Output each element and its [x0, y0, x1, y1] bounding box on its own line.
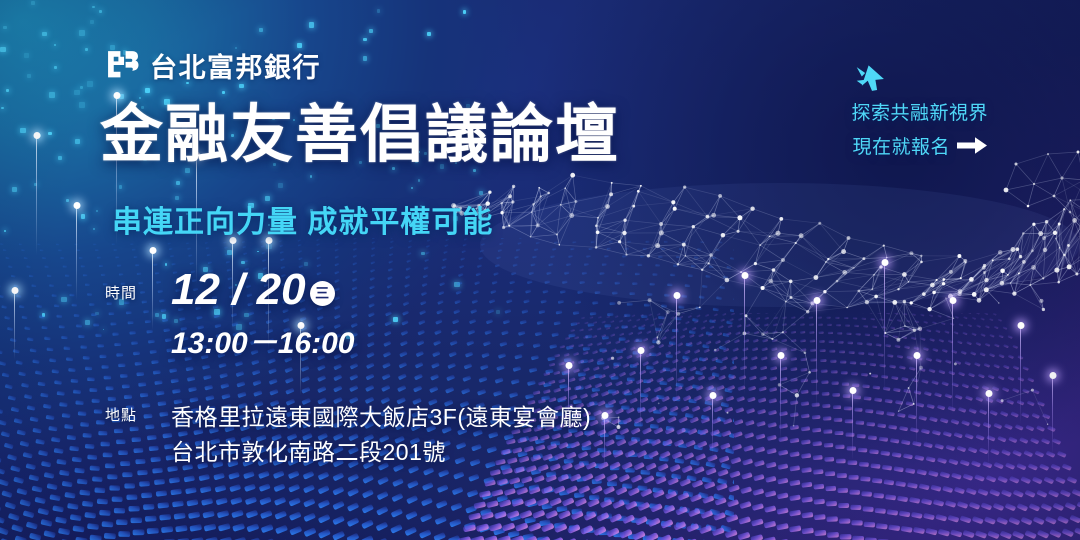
place-label: 地點 [105, 400, 163, 425]
fubon-square-logo-icon [106, 49, 139, 82]
page-title: 金融友善倡議論壇 [100, 104, 620, 167]
arrow-right-icon [957, 136, 987, 155]
event-time-row: 時間 12 / 20 三 13:00－16:00 [105, 268, 591, 362]
event-date: 12 / 20 [171, 268, 306, 312]
cta-tagline: 探索共融新視界 [851, 98, 988, 125]
event-info: 時間 12 / 20 三 13:00－16:00 地點 香格里拉遠東國際大飯店3… [105, 268, 591, 469]
brand-name: 台北富邦銀行 [150, 46, 321, 85]
weekday-badge: 三 [310, 281, 335, 306]
time-label: 時間 [105, 268, 163, 303]
click-cursor-icon [855, 62, 889, 96]
place-address: 台北市敦化南路二段201號 [171, 435, 591, 470]
page-subtitle: 串連正向力量 成就平權可能 [112, 197, 493, 241]
cta-action-label: 現在就報名 [852, 132, 950, 159]
place-venue: 香格里拉遠東國際大飯店3F(遠東宴會廳) [171, 400, 591, 435]
date-block: 12 / 20 三 13:00－16:00 [171, 268, 354, 362]
place-block: 香格里拉遠東國際大飯店3F(遠東宴會廳) 台北市敦化南路二段201號 [171, 400, 591, 469]
cta-action[interactable]: 現在就報名 [851, 132, 988, 159]
event-place-row: 地點 香格里拉遠東國際大飯店3F(遠東宴會廳) 台北市敦化南路二段201號 [105, 400, 591, 469]
registration-cta[interactable]: 探索共融新視界 現在就報名 [851, 62, 988, 159]
event-banner: 台北富邦銀行 金融友善倡議論壇 串連正向力量 成就平權可能 時間 12 / 20… [0, 0, 1080, 540]
brand-logo: 台北富邦銀行 [106, 46, 321, 85]
event-time-range: 13:00－16:00 [171, 318, 354, 362]
date-line: 12 / 20 三 [171, 268, 354, 312]
